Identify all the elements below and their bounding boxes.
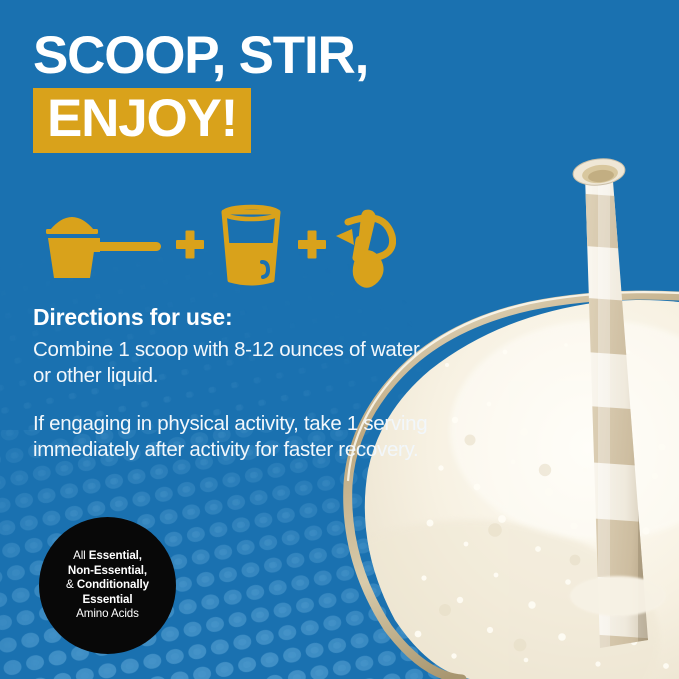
stir-spoon-icon (336, 210, 393, 288)
badge-line-3-bold: Conditionally (77, 578, 149, 591)
plus-sign-1 (176, 231, 204, 259)
product-instruction-graphic: SCOOP, STIR, ENJOY! (0, 0, 679, 679)
directions-heading: Directions for use: (33, 303, 433, 331)
badge-line-1-plain: All (73, 549, 89, 562)
headline: SCOOP, STIR, ENJOY! (33, 28, 503, 153)
amino-acids-badge: All Essential, Non-Essential, & Conditio… (39, 517, 176, 654)
directions-block: Directions for use: Combine 1 scoop with… (33, 303, 433, 463)
glass-icon (224, 207, 278, 283)
badge-line-4-bold: Essential (82, 593, 132, 606)
plus-sign-2 (298, 231, 326, 259)
badge-line-5-plain: Amino Acids (76, 607, 139, 620)
directions-paragraph-2: If engaging in physical activity, take 1… (33, 411, 433, 463)
headline-line-1: SCOOP, STIR, (33, 28, 503, 84)
badge-line-2-bold: Non-Essential, (68, 564, 147, 577)
badge-line-1-bold: Essential, (89, 549, 142, 562)
instruction-icon-row (36, 196, 396, 288)
headline-line-2: ENJOY! (47, 93, 237, 145)
badge-line-3-plain: & (66, 578, 77, 591)
headline-highlight-box: ENJOY! (33, 88, 251, 153)
directions-paragraph-1: Combine 1 scoop with 8-12 ounces of wate… (33, 337, 433, 389)
scoop-icon (46, 217, 161, 278)
